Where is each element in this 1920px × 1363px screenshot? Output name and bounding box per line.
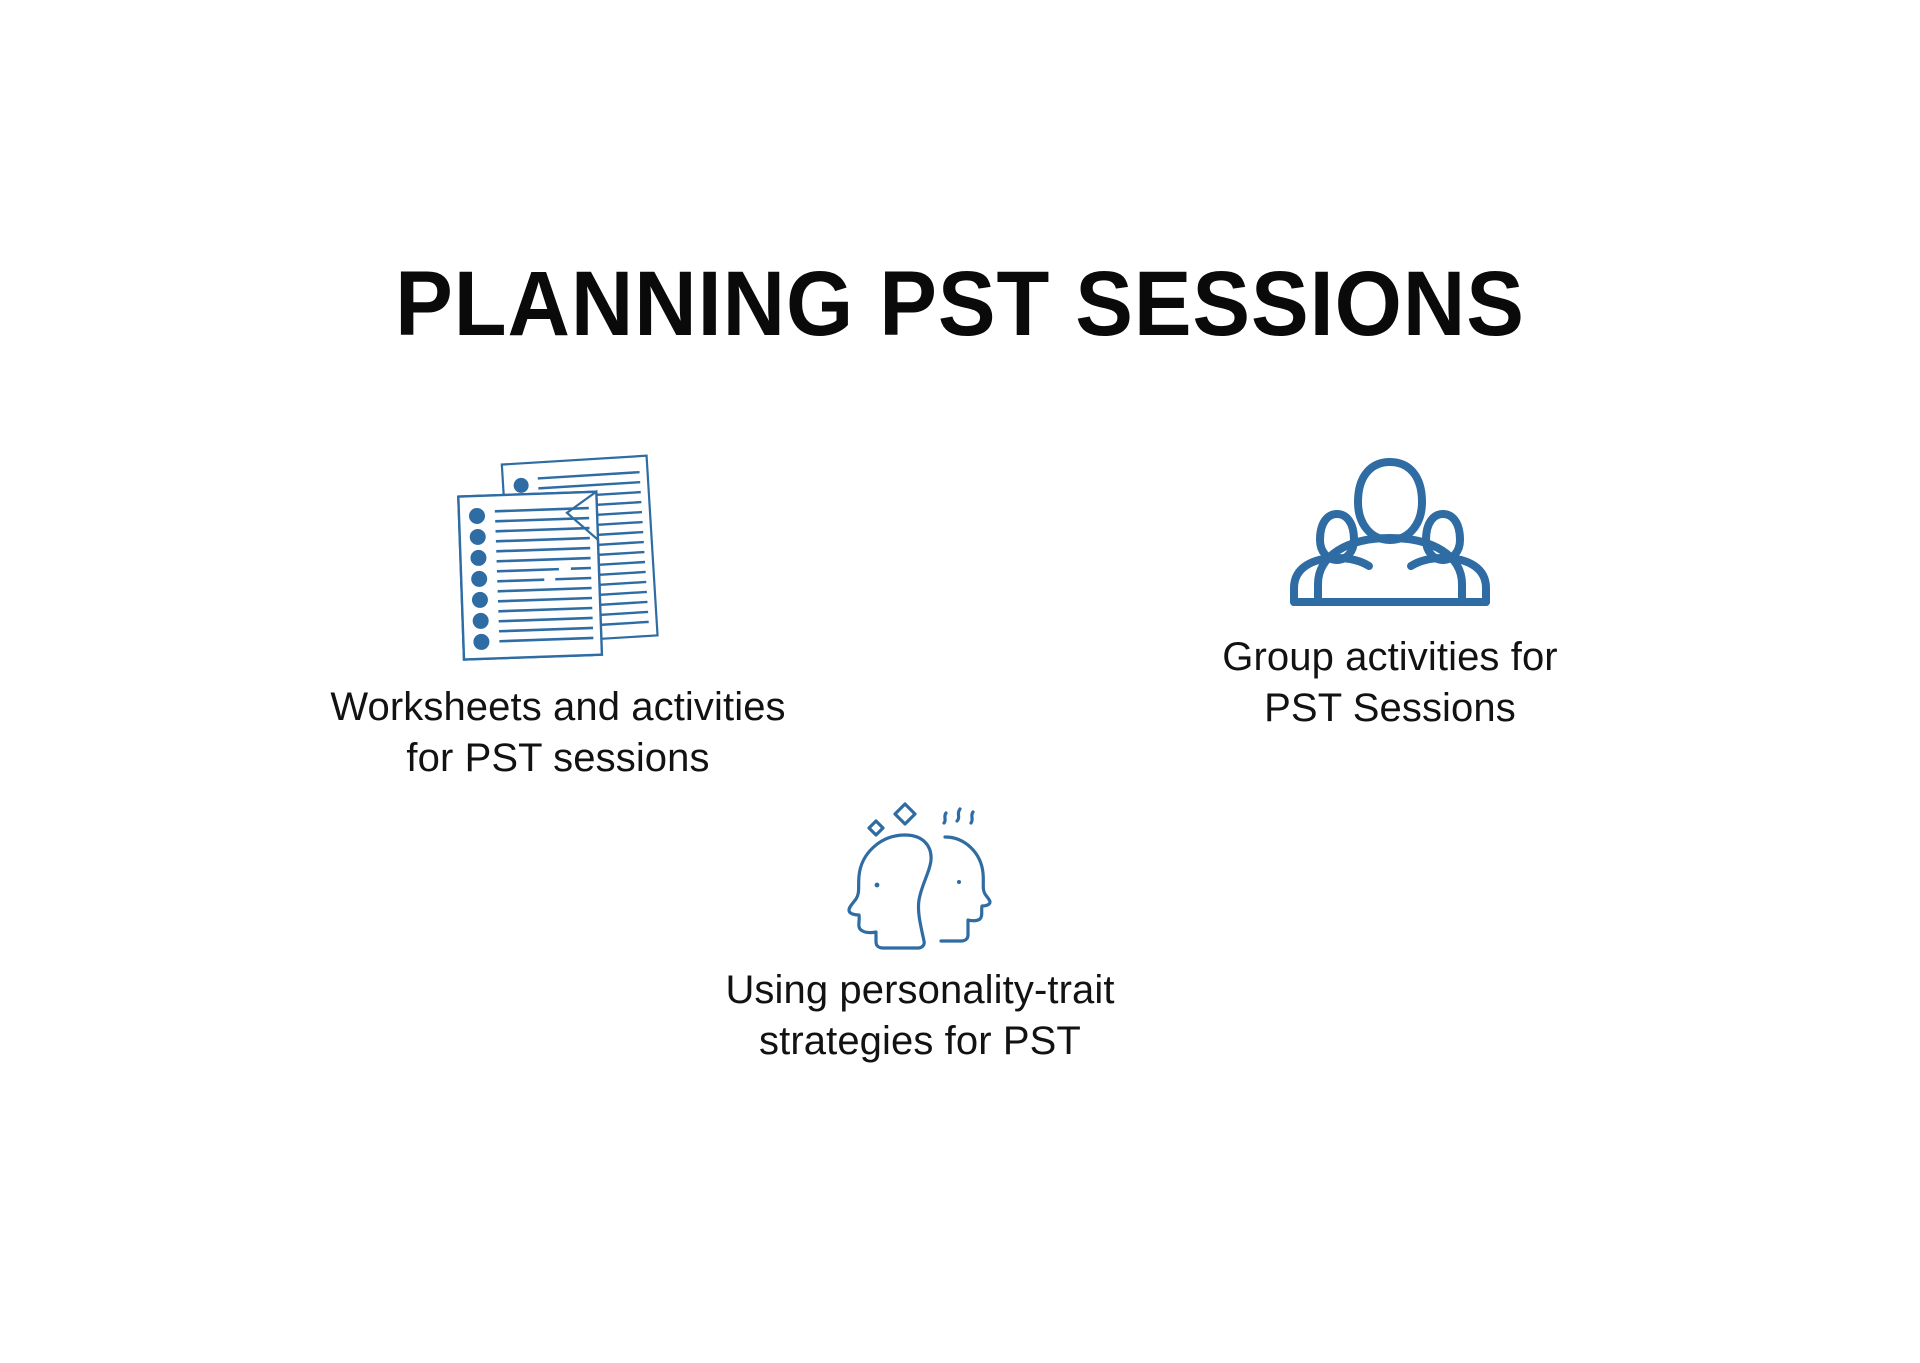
card-group[interactable]: Group activities for PST Sessions bbox=[1100, 452, 1680, 734]
worksheets-documents-icon bbox=[449, 452, 679, 672]
group-people-icon bbox=[1290, 452, 1490, 622]
card-group-caption: Group activities for PST Sessions bbox=[1222, 632, 1557, 734]
card-personality-caption: Using personality-trait strategies for P… bbox=[725, 965, 1114, 1067]
card-worksheets-caption: Worksheets and activities for PST sessio… bbox=[330, 682, 785, 784]
page-title: PLANNING PST SESSIONS bbox=[58, 258, 1863, 350]
two-heads-profile-icon bbox=[833, 790, 1008, 955]
card-worksheets[interactable]: Worksheets and activities for PST sessio… bbox=[248, 452, 868, 784]
card-personality[interactable]: Using personality-trait strategies for P… bbox=[610, 790, 1230, 1067]
slide-canvas: PLANNING PST SESSIONS bbox=[0, 0, 1920, 1363]
